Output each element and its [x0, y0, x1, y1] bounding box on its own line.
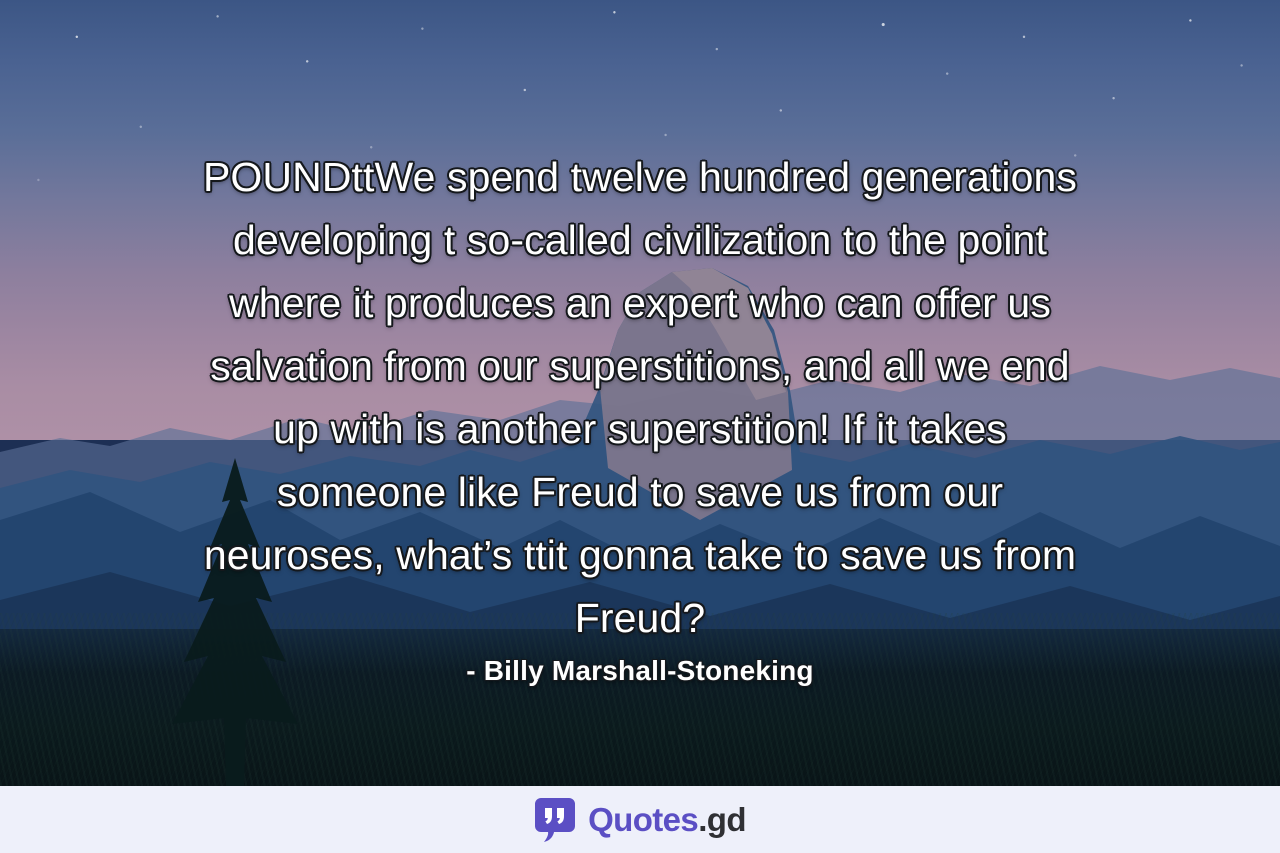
footer-bar: Quotes.gd	[0, 786, 1280, 853]
quote-line: where it produces an expert who can offe…	[36, 272, 1244, 335]
brand-suffix: .gd	[698, 801, 746, 838]
quote-line: developing t so-called civilization to t…	[36, 209, 1244, 272]
quote-author: - Billy Marshall-Stoneking	[0, 655, 1280, 687]
quote-bubble-icon	[534, 797, 576, 843]
site-logo[interactable]: Quotes.gd	[534, 797, 746, 843]
quote-line: salvation from our superstitions, and al…	[36, 335, 1244, 398]
quote-line: neuroses, what’s ttit gonna take to save…	[36, 524, 1244, 587]
quote-line: up with is another superstition! If it t…	[36, 398, 1244, 461]
quote-card: POUNDttWe spend twelve hundred generatio…	[0, 0, 1280, 853]
quote-line: Freud?	[36, 587, 1244, 650]
background-photo: POUNDttWe spend twelve hundred generatio…	[0, 0, 1280, 786]
brand-primary: Quotes	[588, 801, 698, 838]
quote-text: POUNDttWe spend twelve hundred generatio…	[0, 146, 1280, 650]
quote-line: POUNDttWe spend twelve hundred generatio…	[36, 146, 1244, 209]
logo-text: Quotes.gd	[588, 803, 746, 836]
quote-line: someone like Freud to save us from our	[36, 461, 1244, 524]
